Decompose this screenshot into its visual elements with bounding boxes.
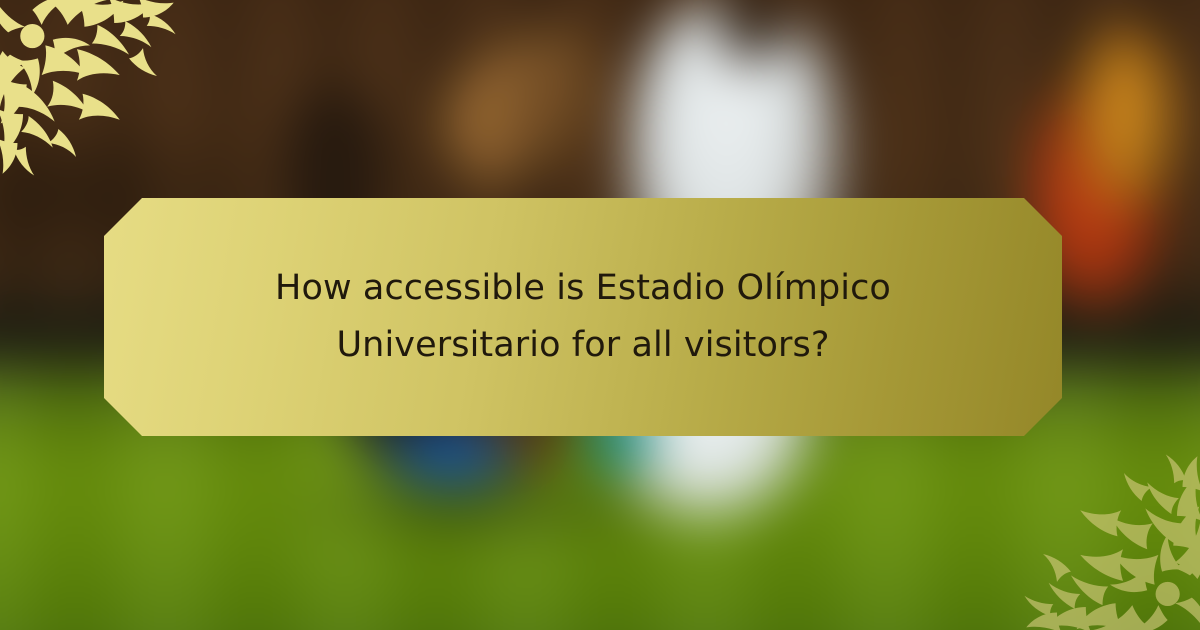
page-title: How accessible is Estadio Olímpico Unive…	[263, 260, 903, 373]
blurred-player-head	[718, 0, 788, 62]
question-banner-content: How accessible is Estadio Olímpico Unive…	[104, 198, 1062, 436]
question-banner: How accessible is Estadio Olímpico Unive…	[104, 198, 1062, 436]
blurred-yellow-kit-player	[1075, 30, 1175, 210]
share-card-canvas: How accessible is Estadio Olímpico Unive…	[0, 0, 1200, 630]
